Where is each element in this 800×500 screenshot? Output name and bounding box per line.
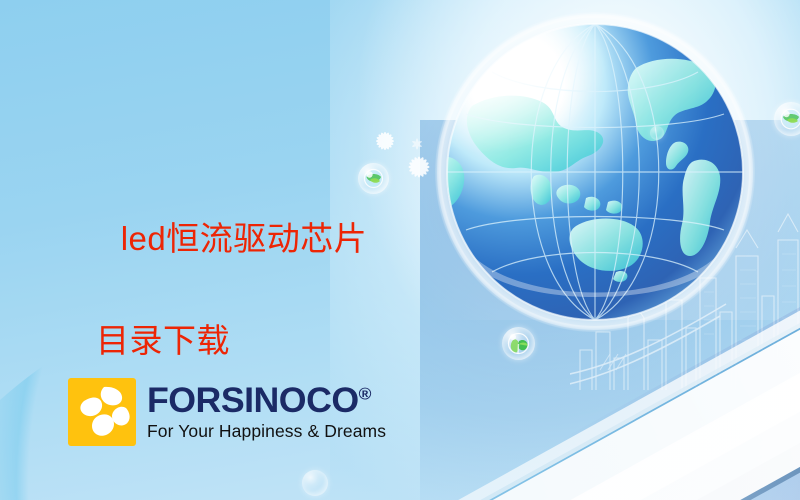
brand-name-text: FORSINOCO (147, 381, 359, 420)
headline-line-2: 目录下载 (82, 315, 367, 366)
brand-text: FORSINOCO® For Your Happiness & Dreams (147, 383, 386, 442)
bubble-with-green-leaf (502, 327, 535, 360)
four-petal-pinwheel-icon (68, 378, 136, 446)
white-flower-sparkle-icon (409, 136, 425, 157)
bubble-with-globe (774, 102, 800, 136)
registered-trademark-mark: ® (359, 384, 372, 403)
brand-tagline: For Your Happiness & Dreams (147, 421, 386, 442)
promo-banner: led恒流驱动芯片 目录下载 FORSINOCO® For Your Happi… (0, 0, 800, 500)
headline-line-1: led恒流驱动芯片 (121, 220, 368, 257)
earth-globe-illustration (430, 10, 760, 340)
bubble-small (650, 126, 664, 140)
bubble-small (302, 470, 328, 496)
brand-logo: FORSINOCO® For Your Happiness & Dreams (68, 378, 386, 446)
white-flower-sparkle-icon (404, 152, 434, 187)
brand-name: FORSINOCO® (147, 383, 391, 418)
background-top-right-glow (360, 0, 800, 320)
white-flower-sparkle-icon (372, 128, 398, 159)
